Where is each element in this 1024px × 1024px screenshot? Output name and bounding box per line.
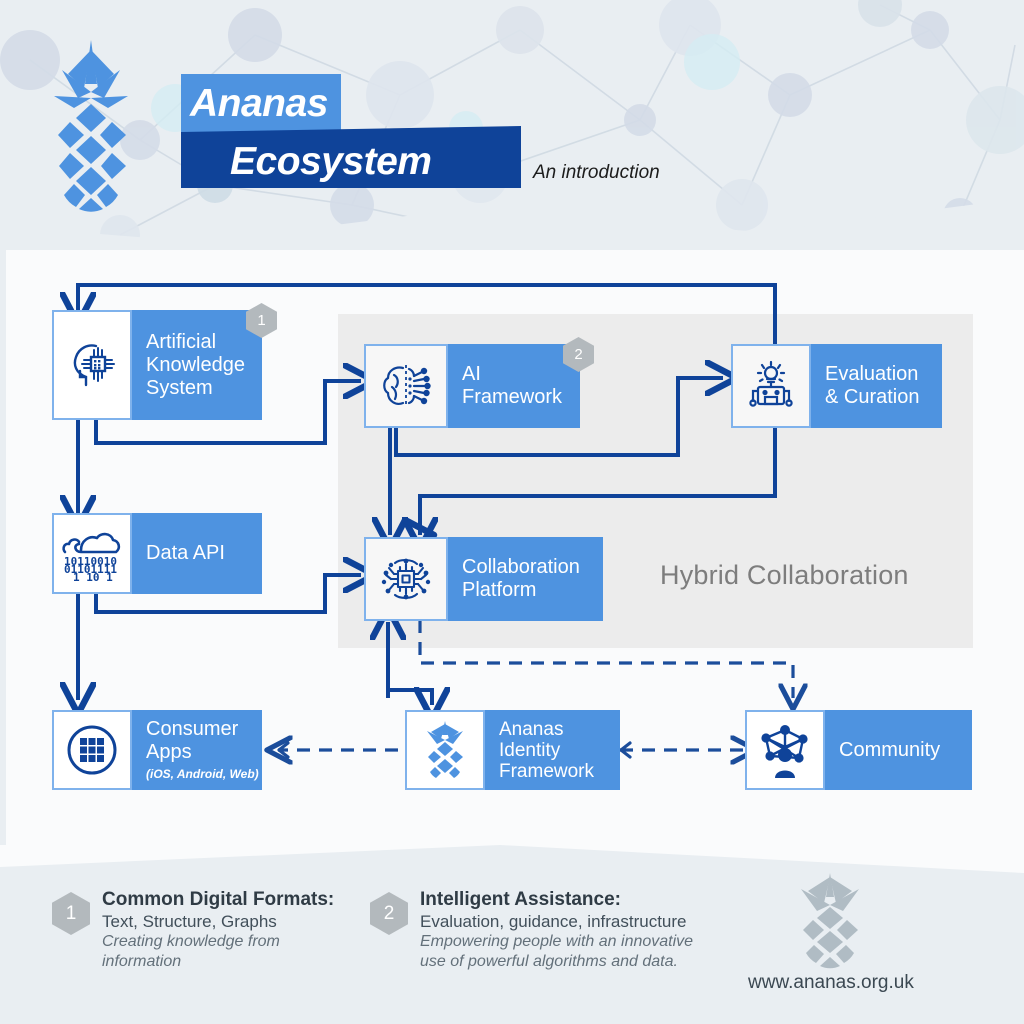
infographic-canvas: Ananas Ecosystem An introduction Hybrid …: [0, 0, 1024, 1024]
node-label: Consumer Apps (iOS, Android, Web): [132, 710, 262, 790]
website-url: www.ananas.org.uk: [748, 972, 914, 994]
node-title-line: Identity: [499, 740, 620, 761]
node-title-line: Community: [839, 739, 972, 762]
legend-note: use of powerful algorithms and data.: [420, 952, 693, 972]
legend-item-1: 1 Common Digital Formats: Text, Structur…: [52, 888, 352, 978]
legend-badge-1: 1: [52, 892, 90, 935]
node-consumer-apps[interactable]: Consumer Apps (iOS, Android, Web): [52, 710, 262, 790]
node-community[interactable]: Community: [745, 710, 972, 790]
legend-detail: Text, Structure, Graphs: [102, 911, 334, 932]
legend-detail: Evaluation, guidance, infrastructure: [420, 911, 693, 932]
node-ai-framework[interactable]: AI Framework: [364, 344, 580, 428]
brain-circuit-icon: [364, 344, 448, 428]
legend-item-2: 2 Intelligent Assistance: Evaluation, gu…: [370, 888, 720, 978]
legend-badge-2: 2: [370, 892, 408, 935]
cloud-binary-icon: 10110010 01101111 1 10 1: [52, 513, 132, 594]
node-title-line: Evaluation: [825, 363, 942, 386]
legend-note: Creating knowledge from: [102, 932, 334, 952]
node-artificial-knowledge-system[interactable]: Artificial Knowledge System: [52, 310, 262, 420]
node-title-line: Ananas: [499, 719, 620, 740]
node-label: Ananas Identity Framework: [485, 710, 620, 790]
node-title-line: Platform: [462, 579, 603, 602]
node-title-line: Apps: [146, 741, 262, 764]
app-grid-icon: [52, 710, 132, 790]
node-data-api[interactable]: 10110010 01101111 1 10 1 Data API: [52, 513, 262, 594]
node-label: AI Framework: [448, 344, 580, 428]
node-title-line: Framework: [462, 386, 580, 409]
node-evaluation-curation[interactable]: Evaluation & Curation: [731, 344, 942, 428]
head-chip-icon: [52, 310, 132, 420]
node-title-line: Data API: [146, 542, 262, 565]
node-title-line: Framework: [499, 761, 620, 782]
node-label: Data API: [132, 513, 262, 594]
node-title-line: Consumer: [146, 718, 262, 741]
node-title-line: Collaboration: [462, 556, 603, 579]
node-collaboration-platform[interactable]: Collaboration Platform: [364, 537, 603, 621]
node-label: Evaluation & Curation: [811, 344, 942, 428]
node-label: Collaboration Platform: [448, 537, 603, 621]
pineapple-icon: [795, 873, 865, 969]
node-ananas-identity-framework[interactable]: Ananas Identity Framework: [405, 710, 620, 790]
legend-heading: Intelligent Assistance:: [420, 888, 693, 911]
node-title-line: System: [146, 377, 262, 400]
node-label: Artificial Knowledge System: [132, 310, 262, 420]
node-subtitle: (iOS, Android, Web): [146, 766, 262, 782]
chip-network-icon: [364, 537, 448, 621]
node-title-line: Artificial: [146, 331, 262, 354]
svg-text:1 10 1: 1 10 1: [73, 571, 113, 584]
legend-heading: Common Digital Formats:: [102, 888, 334, 911]
people-network-icon: [745, 710, 825, 790]
legend-note: information: [102, 952, 334, 972]
node-label: Community: [825, 710, 972, 790]
pineapple-icon: [405, 710, 485, 790]
legend-note: Empowering people with an innovative: [420, 932, 693, 952]
node-title-line: Knowledge: [146, 354, 262, 377]
robot-lightbulb-icon: [731, 344, 811, 428]
node-title-line: AI: [462, 363, 580, 386]
node-title-line: & Curation: [825, 386, 942, 409]
